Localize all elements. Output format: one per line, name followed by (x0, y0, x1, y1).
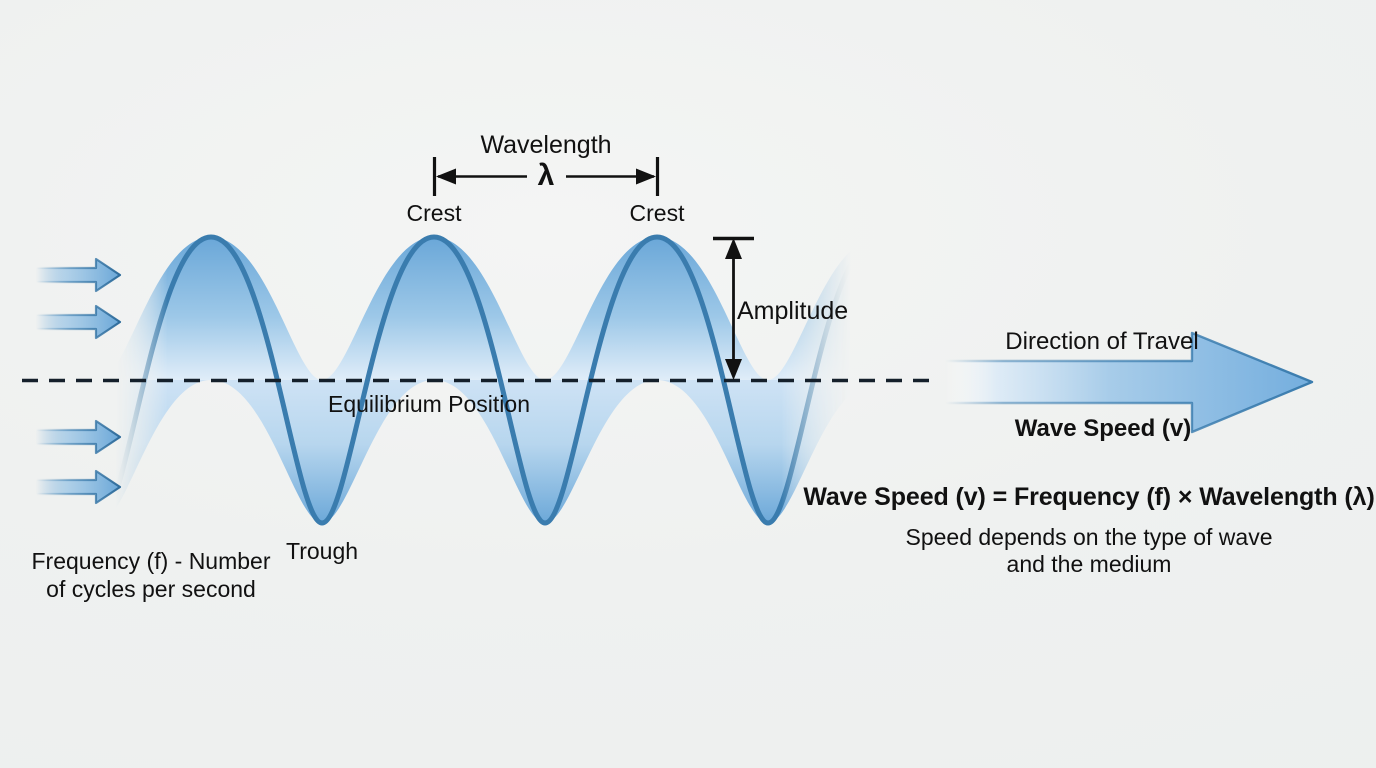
crest-label-right: Crest (607, 200, 707, 227)
wave-speed-formula: Wave Speed (v) = Frequency (f) × Wavelen… (802, 483, 1376, 512)
speed-note-line2: and the medium (812, 551, 1366, 578)
trough-label: Trough (286, 538, 358, 565)
speed-note-line1: Speed depends on the type of wave (812, 524, 1366, 551)
frequency-label-line2: of cycles per second (26, 576, 276, 603)
direction-of-travel-label: Direction of Travel (1002, 328, 1202, 356)
wavelength-label: Wavelength (446, 131, 646, 160)
frequency-label-line1: Frequency (f) - Number (26, 548, 276, 575)
frequency-arrow (36, 306, 120, 338)
wave-diagram-canvas (0, 0, 1376, 768)
wave-crest-fills (99, 237, 991, 380)
wave-speed-label: Wave Speed (v) (1013, 415, 1193, 443)
equilibrium-label: Equilibrium Position (328, 391, 530, 418)
crest-label-left: Crest (384, 200, 484, 227)
frequency-arrow (36, 259, 120, 291)
wave-diagram: Wavelength λ Crest Crest Amplitude Equil… (0, 0, 1376, 768)
amplitude-label: Amplitude (737, 297, 848, 326)
lambda-symbol-label: λ (516, 159, 576, 194)
